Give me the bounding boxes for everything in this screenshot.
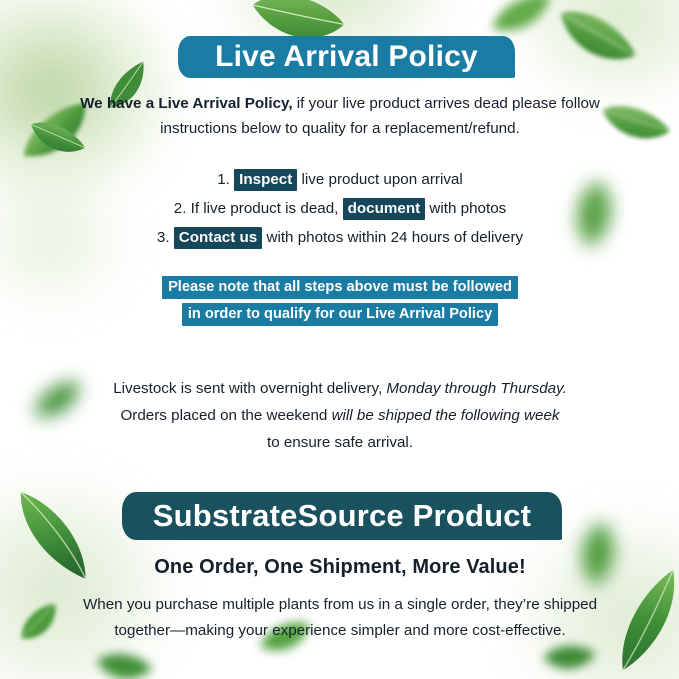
- shipping-paragraph: Livestock is sent with overnight deliver…: [60, 375, 620, 456]
- outro-paragraph: When you purchase multiple plants from u…: [60, 592, 620, 644]
- note-line-1: Please note that all steps above must be…: [162, 276, 518, 299]
- intro-paragraph: We have a Live Arrival Policy, if your l…: [60, 91, 620, 141]
- step-text: with photos within 24 hours of delivery: [262, 229, 523, 246]
- list-item: 2. If live product is dead, document wit…: [60, 194, 620, 223]
- list-item: 3. Contact us with photos within 24 hour…: [60, 223, 620, 252]
- step-highlight-contact-us: Contact us: [174, 227, 262, 249]
- shipping-line-1a: Livestock is sent with overnight deliver…: [113, 380, 386, 397]
- step-highlight-document: document: [343, 198, 426, 220]
- step-text: live product upon arrival: [297, 171, 462, 188]
- shipping-line-1b-italic: Monday through Thursday.: [386, 380, 566, 397]
- intro-bold-lead: We have a Live Arrival Policy,: [80, 95, 292, 112]
- outro-line-1: When you purchase multiple plants from u…: [83, 596, 597, 613]
- tagline: One Order, One Shipment, More Value!: [60, 556, 620, 579]
- live-arrival-policy-infographic: Live Arrival Policy We have a Live Arriv…: [0, 0, 679, 679]
- step-number: 3.: [157, 229, 170, 246]
- intro-rest: if your live product arrives dead please…: [293, 95, 600, 112]
- banner-1-title: Live Arrival Policy: [215, 40, 478, 74]
- outro-line-2: together—making your experience simpler …: [114, 622, 565, 639]
- steps-list: 1. Inspect live product upon arrival 2. …: [60, 165, 620, 252]
- step-highlight-inspect: Inspect: [234, 169, 297, 191]
- banner-2-title: SubstrateSource Product: [153, 498, 531, 534]
- list-item: 1. Inspect live product upon arrival: [60, 165, 620, 194]
- policy-note-block: Please note that all steps above must be…: [60, 274, 620, 328]
- note-line-2: in order to qualify for our Live Arrival…: [182, 303, 498, 326]
- intro-line-2: instructions below to quality for a repl…: [160, 120, 520, 137]
- live-arrival-policy-banner: Live Arrival Policy: [178, 36, 515, 78]
- step-text: with photos: [425, 200, 506, 217]
- note-line-1-wrapper: Please note that all steps above must be…: [162, 274, 518, 301]
- step-number: 2.: [174, 200, 187, 217]
- note-line-2-wrapper: in order to qualify for our Live Arrival…: [182, 301, 498, 328]
- step-number: 1.: [217, 171, 230, 188]
- shipping-line-2a: Orders placed on the weekend: [120, 407, 331, 424]
- shipping-line-3: to ensure safe arrival.: [267, 434, 413, 451]
- step-text-before: If live product is dead,: [186, 200, 342, 217]
- substratesource-product-banner: SubstrateSource Product: [122, 492, 562, 540]
- shipping-line-2b-italic: will be shipped the following week: [332, 407, 560, 424]
- content-layer: Live Arrival Policy We have a Live Arriv…: [0, 0, 679, 679]
